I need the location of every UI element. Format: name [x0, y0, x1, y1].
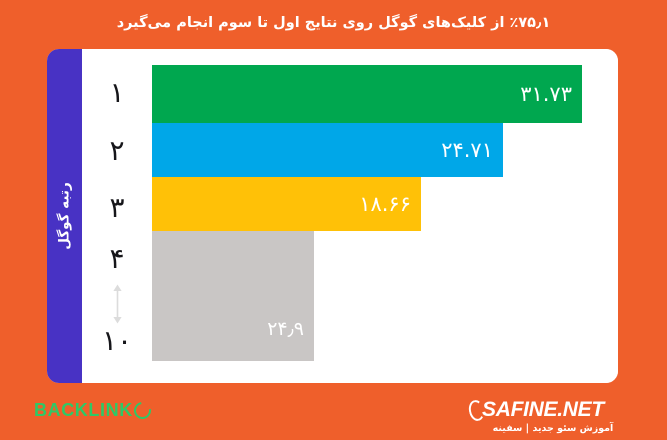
page-title: ٪۷۵٫۱ از کلیک‌های گوگل روی نتایج اول تا … — [0, 13, 667, 33]
safine-logo-text: SAFINE.NET — [482, 399, 604, 421]
up-down-arrow-icon — [82, 283, 152, 325]
plot-area: ۱ ۲ ۳ ۴ ۱۰ ۳۱.۷۳ ۲۴.۷۱ ۱۸.۶۶ — [82, 49, 618, 383]
backlinko-logo: BACKLINK — [34, 400, 151, 421]
chart-card: رتبه گوگل ۱ ۲ ۳ ۴ ۱۰ ۳۱.۷۳ — [47, 49, 618, 383]
y-axis-title-band: رتبه گوگل — [47, 49, 82, 383]
y-tick-rank-1: ۱ — [82, 79, 152, 107]
bar-value-label-3: ۱۸.۶۶ — [359, 194, 421, 215]
y-axis-tick-labels: ۱ ۲ ۳ ۴ ۱۰ — [82, 49, 152, 383]
bar-value-label-1: ۳۱.۷۳ — [520, 84, 582, 105]
bar-rank-2: ۲۴.۷۱ — [152, 123, 503, 177]
bar-rank-3: ۱۸.۶۶ — [152, 177, 421, 231]
y-tick-rank-10: ۱۰ — [82, 327, 152, 355]
safine-tagline: آموزش سئو جدید | سفینه — [469, 423, 637, 434]
bar-value-label-4: ۲۴٫۹ — [267, 320, 314, 339]
y-tick-rank-3: ۳ — [82, 194, 152, 222]
y-axis-title: رتبه گوگل — [57, 182, 73, 249]
bar-series: ۳۱.۷۳ ۲۴.۷۱ ۱۸.۶۶ ۲۴٫۹ — [152, 49, 618, 383]
safine-logo-main: SAFINE.NET — [469, 399, 649, 421]
backlinko-ring-icon — [130, 399, 154, 423]
y-tick-rank-2: ۲ — [82, 137, 152, 165]
safine-logo: SAFINE.NET آموزش سئو جدید | سفینه — [469, 399, 649, 434]
bar-rank-1: ۳۱.۷۳ — [152, 65, 582, 123]
backlinko-logo-text: BACKLINK — [34, 400, 133, 421]
y-tick-rank-4: ۴ — [82, 245, 152, 273]
bar-rank-4-to-10: ۲۴٫۹ — [152, 231, 314, 361]
bar-value-label-2: ۲۴.۷۱ — [441, 140, 503, 161]
